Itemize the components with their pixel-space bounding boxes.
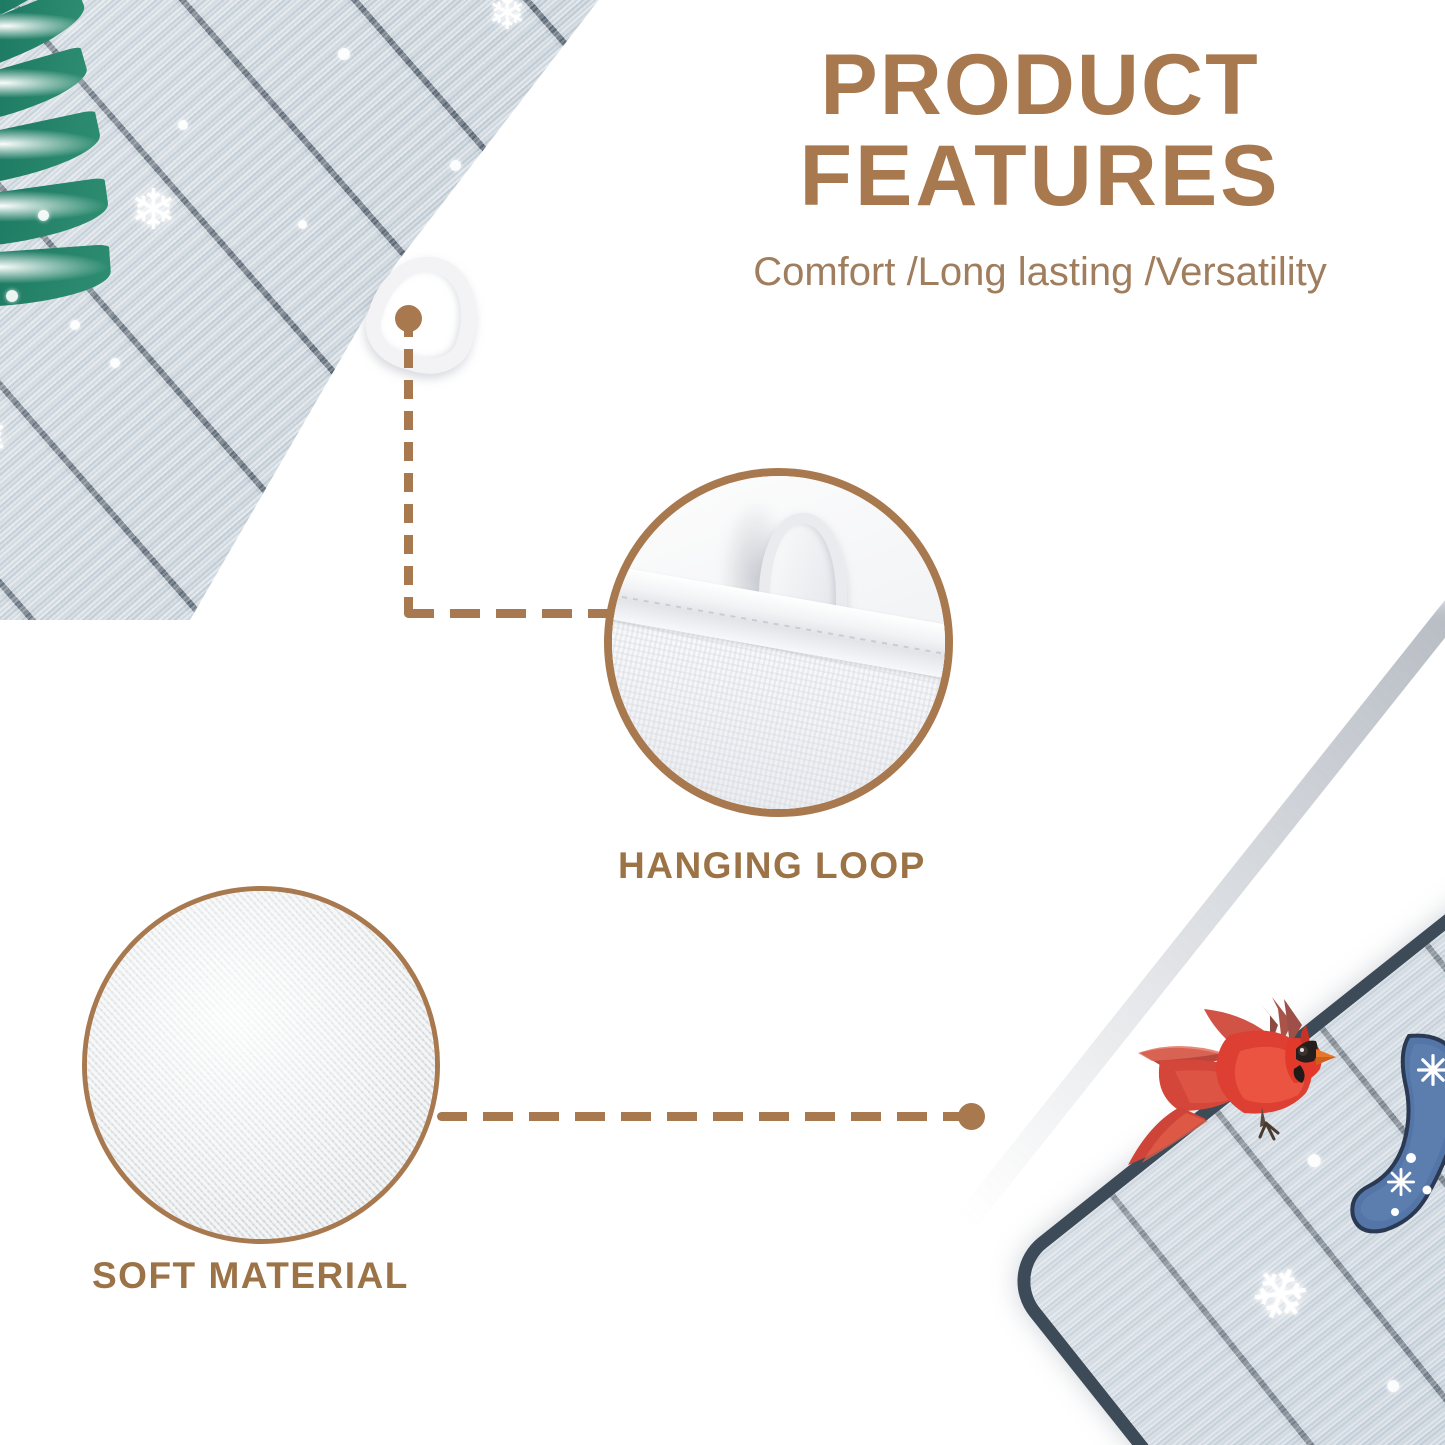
red-cardinal-bird-motif	[1120, 995, 1350, 1185]
snowflake-icon: ❄	[0, 410, 9, 468]
infographic-canvas: ❄ ❄ ❄ ❄ ❄ ❄ ❄ ❄ ❄ ❄ ❄ ❄	[0, 0, 1445, 1445]
header-block: PRODUCT FEATURES Comfort /Long lasting /…	[660, 40, 1420, 295]
callout-circle-hanging-loop	[604, 468, 953, 817]
blue-christmas-stocking-motif	[1345, 1030, 1445, 1280]
snow-dot	[298, 220, 307, 229]
feature-label-soft-material: SOFT MATERIAL	[92, 1255, 409, 1297]
page-title-line-2: FEATURES	[660, 131, 1420, 222]
snow-dot	[450, 160, 461, 171]
page-title-line-1: PRODUCT	[660, 40, 1420, 131]
snowflake-icon: ❄	[130, 182, 177, 238]
connector-line-horizontal-hanging-loop	[404, 609, 619, 618]
terry-fabric-texture	[87, 891, 435, 1239]
snow-dot	[178, 120, 188, 130]
callout-circle-soft-material	[82, 886, 440, 1244]
feature-label-hanging-loop: HANGING LOOP	[618, 845, 926, 887]
connector-dot-soft-material	[958, 1103, 985, 1130]
connector-line-vertical-hanging-loop	[404, 318, 413, 618]
snow-dot	[338, 48, 350, 60]
hanging-loop-photo	[612, 476, 945, 809]
page-subtitle: Comfort /Long lasting /Versatility	[660, 250, 1420, 295]
snow-dot	[110, 358, 120, 368]
snowflake-icon: ❄	[488, 0, 527, 36]
connector-line-horizontal-soft-material	[437, 1112, 972, 1121]
